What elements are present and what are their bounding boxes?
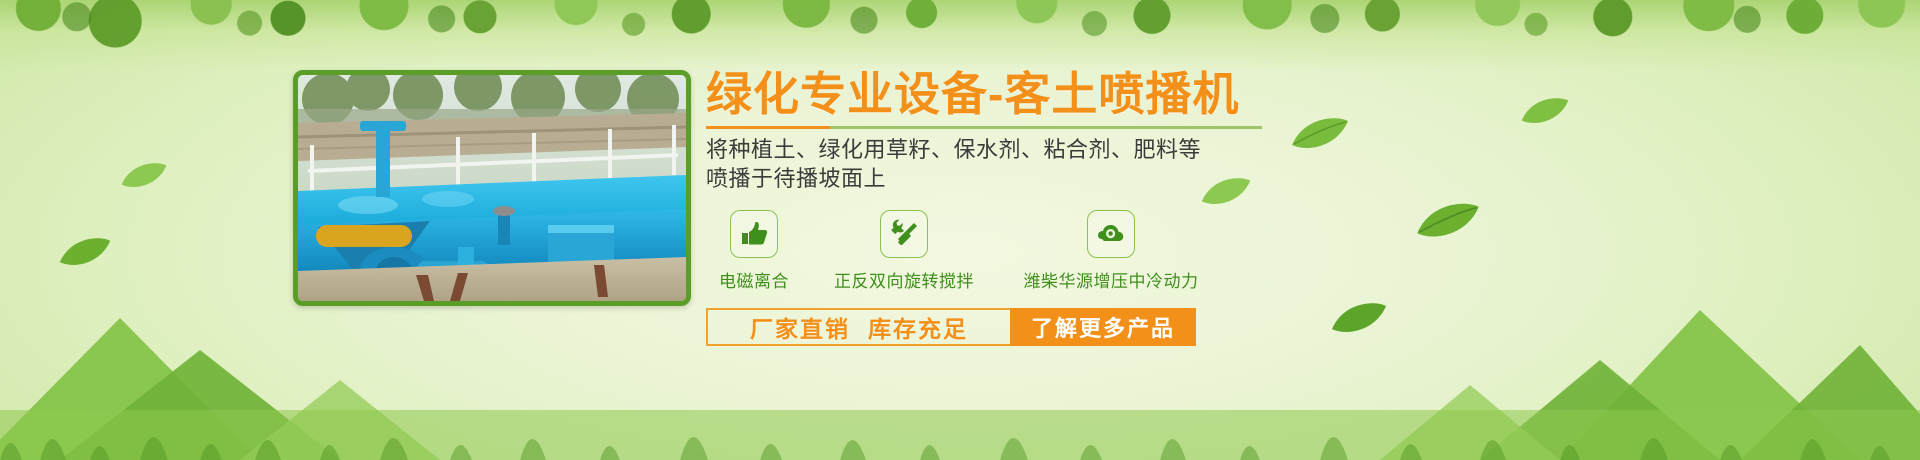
feature-item-electromagnetic-clutch: 电磁离合	[706, 210, 802, 292]
floating-leaf-icon	[1520, 95, 1570, 126]
floating-leaf-icon	[120, 160, 168, 190]
engine-power-icon	[1087, 210, 1135, 258]
grass-fringe	[0, 380, 1920, 460]
tagline-direct-sales: 厂家直销	[750, 310, 850, 344]
title-divider	[706, 126, 1262, 129]
subtitle-line-2: 喷播于待播坡面上	[706, 164, 1326, 194]
feature-label: 电磁离合	[706, 267, 802, 292]
banner-content: 绿化专业设备-客土喷播机 将种植土、绿化用草籽、保水剂、粘合剂、肥料等 喷播于待…	[706, 70, 1326, 346]
floating-leaf-icon	[1330, 300, 1388, 335]
subtitle-line-1: 将种植土、绿化用草籽、保水剂、粘合剂、肥料等	[706, 135, 1326, 165]
feature-list: 电磁离合 正反双向旋转搅拌	[706, 210, 1326, 292]
cta-row: 厂家直销 库存充足 了解更多产品	[706, 308, 1196, 346]
floating-leaf-icon	[1415, 200, 1481, 240]
floating-leaf-icon	[58, 235, 112, 268]
tagline-stock: 库存充足	[868, 310, 968, 344]
feature-label: 潍柴华源增压中冷动力	[1006, 267, 1216, 292]
learn-more-label: 了解更多产品	[1031, 311, 1175, 343]
product-photo-image	[298, 75, 686, 301]
product-photo	[293, 70, 691, 306]
learn-more-button[interactable]: 了解更多产品	[1010, 308, 1196, 346]
sales-tagline-box: 厂家直销 库存充足	[706, 308, 1010, 346]
feature-item-bidirectional-mixing: 正反双向旋转搅拌	[810, 210, 998, 292]
foliage-band-dark	[0, 0, 1920, 42]
page-title: 绿化专业设备-客土喷播机	[706, 70, 1326, 120]
feature-item-weichai-engine: 潍柴华源增压中冷动力	[1006, 210, 1216, 292]
feature-label: 正反双向旋转搅拌	[810, 267, 998, 292]
thumbs-up-icon	[730, 210, 778, 258]
wrench-screwdriver-icon	[880, 210, 928, 258]
promo-banner: 绿化专业设备-客土喷播机 将种植土、绿化用草籽、保水剂、粘合剂、肥料等 喷播于待…	[0, 0, 1920, 460]
